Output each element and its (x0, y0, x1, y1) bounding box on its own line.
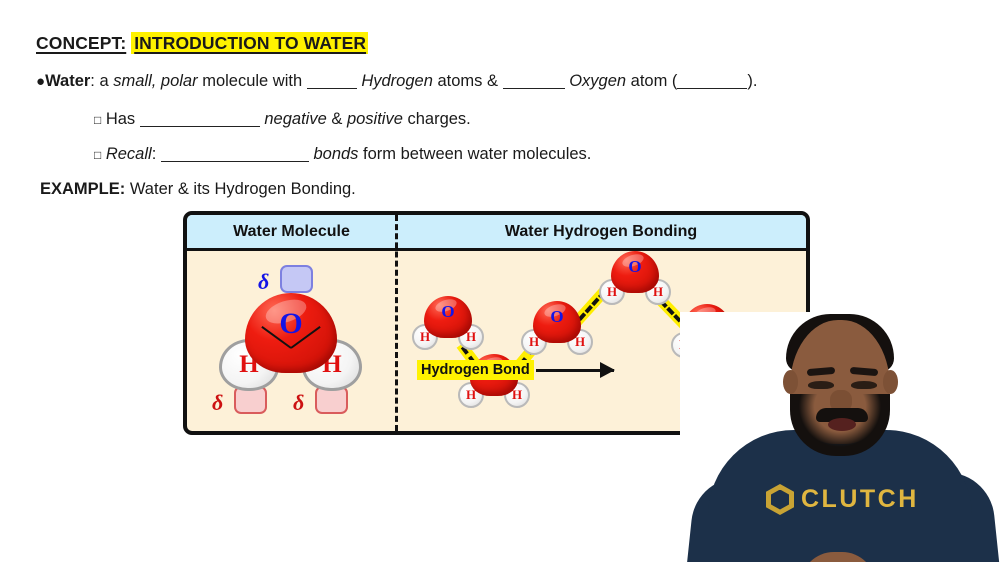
hydrogen-bond-callout: Hydrogen Bond (417, 360, 614, 380)
oxygen-atom-label: O (279, 307, 302, 341)
recall-text-1: : (152, 145, 161, 163)
bullet-marker: ● (36, 73, 45, 90)
water-text-5: ). (747, 72, 757, 90)
water-text-3: atoms & (433, 72, 503, 90)
blank-formula[interactable] (677, 75, 747, 89)
hydrogen-bond-label: Hydrogen Bond (417, 360, 534, 380)
blank-charge-type[interactable] (140, 113, 260, 127)
presenter-ear-left (783, 370, 798, 394)
shirt-logo: CLUTCH (766, 484, 919, 515)
water-italic-hydrogen: Hydrogen (361, 72, 433, 90)
presenter-eye-right (851, 381, 877, 389)
delta-negative-symbol: δ (258, 269, 269, 295)
water-molecule-c: H H O (520, 301, 594, 363)
oxygen-atom: O (611, 251, 659, 293)
shirt-brand-text: CLUTCH (801, 485, 919, 514)
presenter-eye-left (808, 381, 834, 389)
has-italic-positive: positive (347, 110, 403, 128)
term-water: Water (45, 72, 90, 90)
water-italic-oxygen: Oxygen (569, 72, 626, 90)
water-text-1: : a (90, 72, 113, 90)
recall-text-2: form between water molecules. (358, 145, 591, 163)
presenter-mouth (828, 418, 856, 431)
figure-header-hydrogen-bonding: Water Hydrogen Bonding (396, 215, 806, 248)
delta-positive-symbol-left: δ (212, 390, 223, 416)
blank-bond-type[interactable] (161, 148, 309, 162)
concept-title-highlight: INTRODUCTION TO WATER (131, 32, 368, 54)
callout-arrow-icon (536, 369, 614, 372)
has-text-3: charges. (403, 110, 471, 128)
oxygen-atom-label: O (628, 257, 641, 277)
has-text-1: Has (101, 110, 140, 128)
example-text: Water & its Hydrogen Bonding. (125, 180, 356, 198)
blank-oxygen-count[interactable] (503, 75, 565, 89)
sub-bullet-recall: □ Recall: bonds form between water molec… (94, 145, 591, 163)
presenter-webcam: CLUTCH (680, 312, 1000, 562)
concept-label: CONCEPT: (36, 33, 126, 53)
water-molecule-d: H H O (598, 251, 672, 313)
water-italic-small-polar: small, polar (113, 72, 197, 90)
bullet-water-definition: ●Water: a small, polar molecule with Hyd… (36, 72, 758, 91)
presenter-ear-right (883, 370, 898, 394)
has-italic-negative: negative (264, 110, 326, 128)
recall-italic-label: Recall (106, 145, 152, 163)
blank-hydrogen-count[interactable] (307, 75, 357, 89)
water-text-4: atom ( (626, 72, 677, 90)
has-text-2: & (327, 110, 347, 128)
figure-header-water-molecule: Water Molecule (187, 215, 396, 248)
oxygen-atom: O (245, 293, 337, 373)
oxygen-atom-label: O (441, 302, 454, 322)
water-molecule-a: H H O (411, 296, 485, 358)
delta-positive-symbol-right: δ (293, 390, 304, 416)
figure-header: Water Molecule Water Hydrogen Bonding (187, 215, 806, 251)
example-line: EXAMPLE: Water & its Hydrogen Bonding. (40, 180, 356, 198)
oxygen-atom: O (533, 301, 581, 343)
hexagon-logo-icon (766, 484, 794, 515)
recall-italic-bonds: bonds (313, 145, 358, 163)
oxygen-atom: O (424, 296, 472, 338)
page-title: CONCEPT: INTRODUCTION TO WATER (36, 33, 368, 54)
partial-negative-charge-box (280, 265, 313, 293)
oxygen-atom-label: O (550, 307, 563, 327)
water-molecule-diagram: δ δ δ H H O (187, 251, 395, 435)
water-text-2: molecule with (198, 72, 307, 90)
example-label: EXAMPLE: (40, 180, 125, 198)
sub-bullet-charges: □ Has negative & positive charges. (94, 110, 471, 128)
